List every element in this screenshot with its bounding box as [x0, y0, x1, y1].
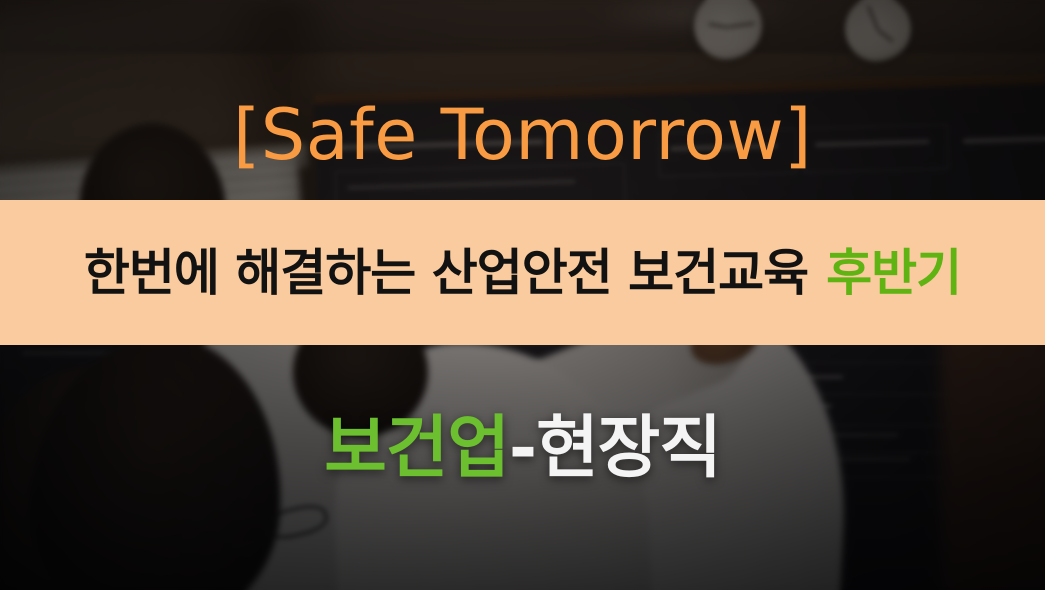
- subtitle-line: 보건업-현장직: [0, 415, 1045, 483]
- headline-banner: 한번에 해결하는 산업안전 보건교육 후반기: [0, 200, 1045, 345]
- subtitle-role: -현장직: [509, 409, 721, 488]
- poster-canvas: [Safe Tomorrow] 한번에 해결하는 산업안전 보건교육 후반기 보…: [0, 0, 1045, 590]
- headline-banner-text: 한번에 해결하는 산업안전 보건교육 후반기: [84, 248, 961, 298]
- subtitle-category: 보건업: [324, 409, 509, 488]
- headline-accent: 후반기: [826, 248, 961, 298]
- page-title-english: [Safe Tomorrow]: [0, 100, 1045, 170]
- headline-main: 한번에 해결하는 산업안전 보건교육: [84, 248, 808, 298]
